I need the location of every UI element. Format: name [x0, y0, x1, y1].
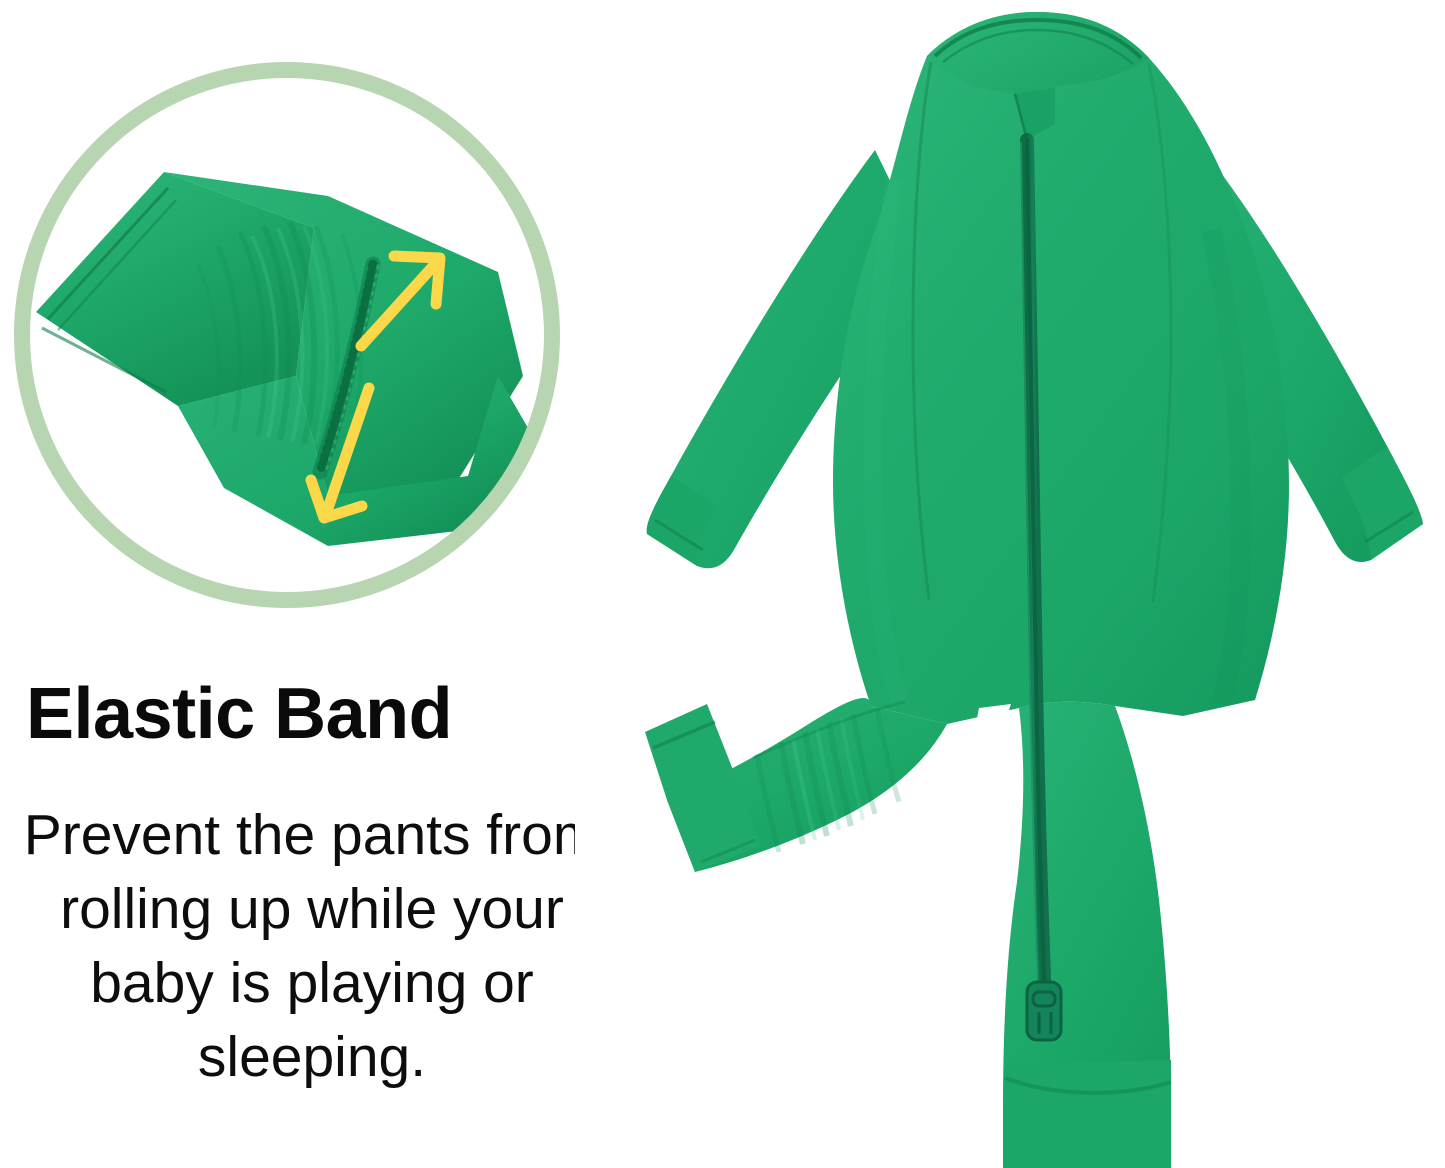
- product-romper: [575, 0, 1445, 1168]
- inset-image-clip: [28, 76, 546, 594]
- cuff-closeup-illustration: [28, 76, 546, 594]
- infographic-canvas: Elastic Band Prevent the pants from roll…: [0, 0, 1445, 1168]
- right-leg-cuff: [1003, 1060, 1171, 1168]
- romper-illustration: [575, 0, 1445, 1168]
- feature-description: Prevent the pants from rolling up while …: [4, 798, 620, 1094]
- elastic-band-closeup-inset: [14, 62, 560, 608]
- zipper-pull-icon: [1027, 982, 1061, 1040]
- page-title: Elastic Band: [26, 678, 626, 750]
